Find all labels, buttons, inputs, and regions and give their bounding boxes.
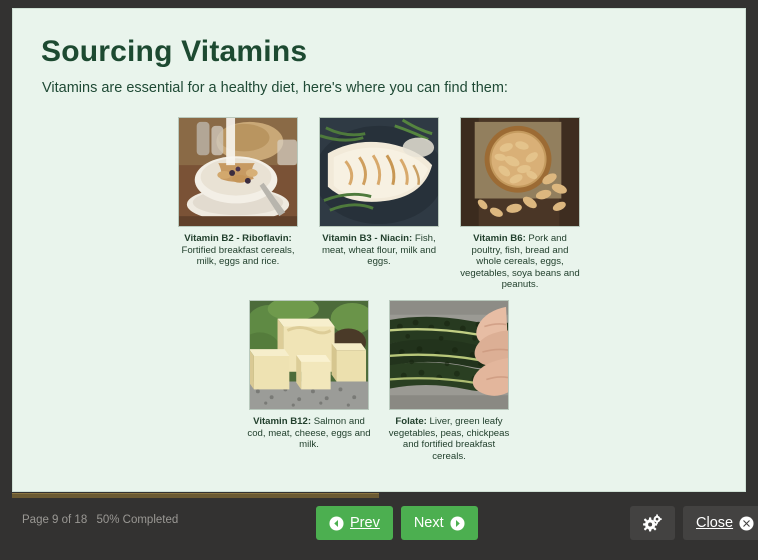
page-subtitle: Vitamins are essential for a healthy die… <box>42 80 745 97</box>
presentation-viewport: Sourcing Vitamins Vitamins are essential… <box>0 0 758 560</box>
peanuts-bowl-photo <box>460 117 580 227</box>
vitamin-name: Folate: <box>395 416 426 427</box>
vitamin-name: Vitamin B12: <box>253 416 311 427</box>
next-button[interactable]: Next <box>401 506 478 540</box>
vitamin-card-row-bottom: Vitamin B12: Salmon and cod, meat, chees… <box>13 300 745 462</box>
vitamin-card: Folate: Liver, green leafy vegetables, p… <box>389 300 509 462</box>
kale-leaves-photo <box>389 300 509 410</box>
page-counter: Page 9 of 18 <box>22 514 87 526</box>
vitamin-card: Vitamin B6: Pork and poultry, fish, brea… <box>460 117 580 290</box>
player-footer: Page 9 of 18 50% Completed Prev Next <box>0 498 758 560</box>
vitamin-card-caption: Vitamin B2 - Riboflavin: Fortified break… <box>176 233 300 267</box>
cheese-blocks-photo <box>249 300 369 410</box>
vitamin-card-caption: Vitamin B3 - Niacin: Fish, meat, wheat f… <box>317 233 441 267</box>
navigation-buttons: Prev Next <box>316 506 478 540</box>
close-button[interactable]: Close <box>683 506 758 540</box>
vitamin-card: Vitamin B2 - Riboflavin: Fortified break… <box>178 117 298 267</box>
page-title: Sourcing Vitamins <box>41 35 745 68</box>
settings-button[interactable] <box>630 506 675 540</box>
completion-percent: 50% Completed <box>96 514 178 526</box>
vitamin-card-caption: Vitamin B6: Pork and poultry, fish, brea… <box>458 233 582 290</box>
vitamin-card: Vitamin B12: Salmon and cod, meat, chees… <box>249 300 369 450</box>
slide-card: Sourcing Vitamins Vitamins are essential… <box>12 8 746 492</box>
chevron-left-circle-icon <box>329 516 344 531</box>
progress-status-text: Page 9 of 18 50% Completed <box>22 514 184 526</box>
vitamin-name: Vitamin B3 - Niacin: <box>322 233 412 244</box>
vitamin-card-row-top: Vitamin B2 - Riboflavin: Fortified break… <box>13 117 745 290</box>
vitamin-card-caption: Folate: Liver, green leafy vegetables, p… <box>387 416 511 462</box>
vitamin-name: Vitamin B6: <box>473 233 526 244</box>
utility-buttons: Close <box>630 506 758 540</box>
vitamin-card-caption: Vitamin B12: Salmon and cod, meat, chees… <box>247 416 371 450</box>
next-button-label: Next <box>414 515 444 531</box>
prev-button[interactable]: Prev <box>316 506 393 540</box>
prev-button-label: Prev <box>350 515 380 531</box>
vitamin-card: Vitamin B3 - Niacin: Fish, meat, wheat f… <box>319 117 439 267</box>
close-circle-icon <box>739 516 754 531</box>
gears-icon <box>643 514 662 533</box>
vitamin-sources: Fortified breakfast cereals, milk, eggs … <box>181 245 294 267</box>
close-button-label: Close <box>696 515 733 531</box>
baked-fish-photo <box>319 117 439 227</box>
chevron-right-circle-icon <box>450 516 465 531</box>
vitamin-name: Vitamin B2 - Riboflavin: <box>184 233 292 244</box>
cereal-bowl-photo <box>178 117 298 227</box>
